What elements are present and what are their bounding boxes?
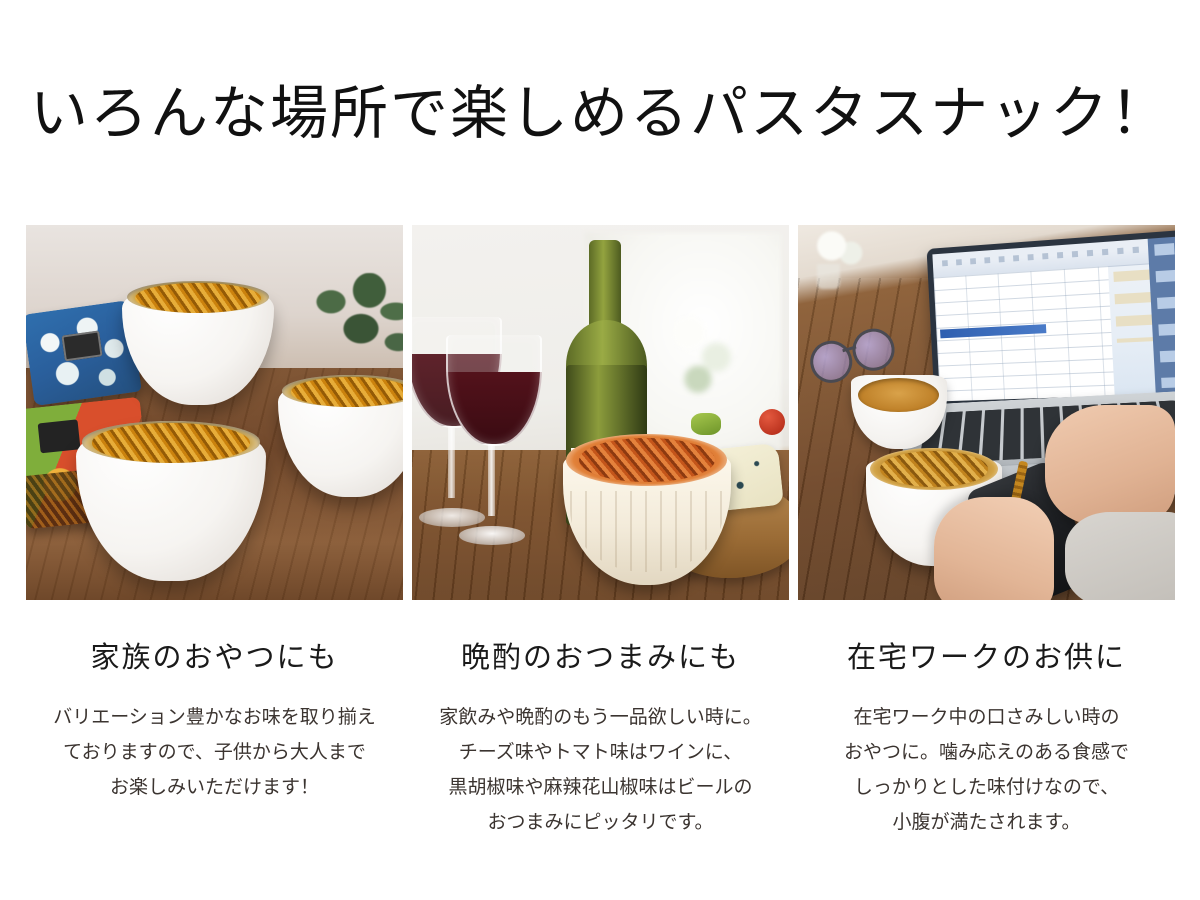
feature-column-remote-work: 在宅ワークのお供に 在宅ワーク中の口さみしい時の おやつに。噛み応えのある食感で…	[798, 225, 1175, 841]
hand-typing	[1045, 405, 1175, 525]
lime-wedge	[691, 413, 721, 435]
pasta-snack-pile	[291, 377, 403, 407]
feature-body-remote-work: 在宅ワーク中の口さみしい時の おやつに。噛み応えのある食感で しっかりとした味付…	[844, 700, 1129, 841]
feature-column-family: 家族のおやつにも バリエーション豊かなお味を取り揃え ておりますので、子供から大…	[26, 225, 403, 841]
body-line: おつまみにピッタリです。	[439, 805, 761, 840]
feature-body-family: バリエーション豊かなお味を取り揃え ておりますので、子供から大人まで お楽しみい…	[53, 700, 376, 805]
body-line: おやつに。噛み応えのある食感で	[844, 735, 1129, 770]
page-title: いろんな場所で楽しめるパスタスナック！	[0, 82, 1200, 146]
wine-glass-front	[446, 335, 538, 545]
bowl-rim	[566, 434, 727, 486]
feature-columns: 家族のおやつにも バリエーション豊かなお味を取り揃え ておりますので、子供から大…	[26, 225, 1175, 841]
spreadsheet-grid	[933, 266, 1114, 401]
feature-title-drinks: 晩酌のおつまみにも	[461, 634, 740, 676]
bowl-flutes	[570, 491, 725, 572]
photo-remote-work	[798, 225, 1175, 600]
body-line: 小腹が満たされます。	[844, 805, 1129, 840]
green-leaves	[295, 273, 403, 369]
bowl-rim	[282, 375, 403, 407]
app-sidebar	[1148, 237, 1175, 395]
tea-liquid	[858, 378, 939, 412]
glass-bowl	[446, 335, 542, 446]
photo-wine-snack	[412, 225, 789, 600]
package-label-green	[38, 419, 81, 453]
bowl-rim	[870, 448, 998, 490]
feature-title-remote-work: 在宅ワークのお供に	[847, 634, 1126, 676]
pasta-snack-pile	[135, 283, 261, 313]
selected-row	[939, 324, 1046, 338]
flower-vase	[806, 229, 870, 289]
bowl-rim	[82, 421, 261, 463]
feature-column-drinks: 晩酌のおつまみにも 家飲みや晩酌のもう一品欲しい時に。 チーズ味やトマト味はワイ…	[412, 225, 789, 841]
body-line: しっかりとした味付けなので、	[844, 770, 1129, 805]
body-line: お楽しみいただけます！	[53, 770, 376, 805]
hand-holding-snack	[934, 497, 1054, 600]
photo-family-snack	[26, 225, 403, 600]
white-flowers	[652, 300, 744, 410]
glass-foot	[459, 526, 525, 545]
bowl-rim	[127, 281, 270, 313]
body-line: ておりますので、子供から大人まで	[53, 735, 376, 770]
body-line: 在宅ワーク中の口さみしい時の	[844, 700, 1129, 735]
body-line: 家飲みや晩酌のもう一品欲しい時に。	[439, 700, 761, 735]
pasta-snack-pile	[579, 438, 714, 482]
sweater-sleeve	[1065, 512, 1175, 601]
spreadsheet-app	[932, 237, 1175, 402]
glass-stem	[488, 444, 495, 515]
body-line: チーズ味やトマト味はワインに、	[439, 735, 761, 770]
laptop-screen	[926, 230, 1175, 407]
pasta-snack-pile	[92, 423, 249, 462]
body-line: 黒胡椒味や麻辣花山椒味はビールの	[439, 770, 761, 805]
package-label-blue	[61, 330, 102, 361]
feature-body-drinks: 家飲みや晩酌のもう一品欲しい時に。 チーズ味やトマト味はワインに、 黒胡椒味や麻…	[439, 700, 761, 841]
pasta-snack-pile	[880, 451, 987, 487]
body-line: バリエーション豊かなお味を取り揃え	[53, 700, 376, 735]
lens-right	[848, 324, 900, 376]
feature-title-family: 家族のおやつにも	[90, 634, 338, 676]
